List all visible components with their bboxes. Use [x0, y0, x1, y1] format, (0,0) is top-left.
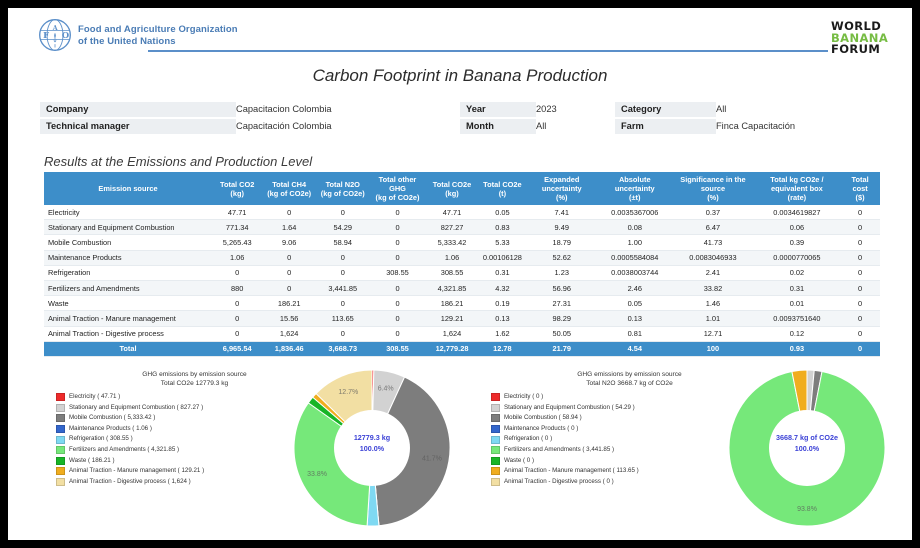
chart-n2o-center-pct: 100.0% — [759, 443, 855, 454]
table-body: Electricity47.7100047.710.057.410.003536… — [44, 205, 880, 356]
table-col-header-9[interactable]: Significance in the source(%) — [672, 172, 753, 205]
table-cell: 0 — [316, 205, 370, 220]
chart-co2e-donut-wrap: 6.4%41.7%33.8%12.7% 12779.3 kg 100.0% — [292, 368, 462, 532]
table-cell: 1.46 — [672, 296, 753, 311]
table-cell: Stationary and Equipment Combustion — [44, 220, 212, 235]
legend-swatch — [491, 436, 500, 444]
legend-item[interactable]: Mobile Combustion ( 58.94 ) — [491, 413, 741, 424]
legend-swatch — [56, 404, 65, 412]
filter-label-year: Year — [460, 102, 536, 117]
legend-swatch — [56, 393, 65, 401]
table-cell: 0 — [316, 296, 370, 311]
table-col-header-8[interactable]: Absolute uncertainty(±t) — [597, 172, 672, 205]
table-cell: 18.79 — [526, 235, 597, 250]
table-cell: 0.0034619827 — [754, 205, 841, 220]
table-cell: 4.32 — [479, 280, 527, 295]
legend-label: Electricity ( 47.71 ) — [69, 392, 120, 403]
table-cell: 0 — [840, 296, 880, 311]
table-cell: 1.64 — [262, 220, 316, 235]
chart-co2e-legend: Electricity ( 47.71 )Stationary and Equi… — [56, 392, 306, 487]
legend-item[interactable]: Stationary and Equipment Combustion ( 54… — [491, 403, 741, 414]
table-col-header-0[interactable]: Emission source — [44, 172, 212, 205]
table-cell: 1,624 — [262, 326, 316, 341]
chart-n2o-block: GHG emissions by emission source Total N… — [491, 370, 911, 530]
table-cell: 58.94 — [316, 235, 370, 250]
legend-swatch — [491, 414, 500, 422]
chart-n2o-subtitle: Total N2O 3668.7 kg of CO2e — [507, 379, 752, 388]
table-cell: 0.31 — [479, 265, 527, 280]
table-total-cell: 12,779.28 — [425, 341, 478, 356]
legend-label: Mobile Combustion ( 58.94 ) — [504, 413, 582, 424]
pie-slice-percent-label: 41.7% — [422, 455, 442, 462]
table-cell: 47.71 — [212, 205, 262, 220]
table-total-row: Total6,965.541,836.463,668.73308.5512,77… — [44, 341, 880, 356]
table-cell: Waste — [44, 296, 212, 311]
fao-organization-name: Food and Agriculture Organization of the… — [78, 24, 238, 47]
table-cell: 0 — [262, 205, 316, 220]
legend-label: Refrigeration ( 0 ) — [504, 434, 552, 445]
chart-n2o-donut-wrap: 93.8% 3668.7 kg of CO2e 100.0% — [727, 368, 897, 532]
table-cell: 0.00106128 — [479, 250, 527, 265]
table-cell: 4,321.85 — [425, 280, 478, 295]
table-cell: 0 — [370, 326, 426, 341]
table-total-cell: 100 — [672, 341, 753, 356]
table-cell: 0 — [370, 205, 426, 220]
table-cell: 7.41 — [526, 205, 597, 220]
chart-n2o-center-label: 3668.7 kg of CO2e 100.0% — [759, 432, 855, 454]
table-cell: 12.71 — [672, 326, 753, 341]
legend-item[interactable]: Animal Traction - Manure management ( 12… — [56, 466, 306, 477]
table-cell: Fertilizers and Amendments — [44, 280, 212, 295]
table-cell: Refrigeration — [44, 265, 212, 280]
chart-co2e-subtitle: Total CO2e 12779.3 kg — [72, 379, 317, 388]
table-cell: Animal Traction - Digestive process — [44, 326, 212, 341]
table-cell: 1.01 — [672, 311, 753, 326]
table-cell: 1.62 — [479, 326, 527, 341]
table-cell: 0 — [370, 235, 426, 250]
legend-label: Maintenance Products ( 0 ) — [504, 424, 578, 435]
table-cell: 33.82 — [672, 280, 753, 295]
legend-swatch — [491, 393, 500, 401]
filter-value-month[interactable]: All — [530, 119, 621, 134]
table-cell: 0 — [212, 326, 262, 341]
table-row[interactable]: Animal Traction - Digestive process01,62… — [44, 326, 880, 341]
table-cell: Animal Traction - Manure management — [44, 311, 212, 326]
legend-swatch — [491, 404, 500, 412]
legend-swatch — [491, 457, 500, 465]
table-cell: 0 — [840, 205, 880, 220]
table-total-cell: 308.55 — [370, 341, 426, 356]
legend-item[interactable]: Electricity ( 0 ) — [491, 392, 741, 403]
table-row[interactable]: Maintenance Products1.060001.060.0010612… — [44, 250, 880, 265]
header-divider — [148, 50, 828, 52]
table-col-header-7[interactable]: Expanded uncertainty(%) — [526, 172, 597, 205]
table-cell: 1.06 — [212, 250, 262, 265]
filter-value-category[interactable]: All — [710, 102, 886, 117]
table-cell: 0 — [370, 296, 426, 311]
table-cell: 5,333.42 — [425, 235, 478, 250]
table-row[interactable]: Fertilizers and Amendments88003,441.8504… — [44, 280, 880, 295]
legend-item[interactable]: Refrigeration ( 0 ) — [491, 434, 741, 445]
legend-item[interactable]: Waste ( 186.21 ) — [56, 456, 306, 467]
filter-band: Company Capacitacion Colombia Year 2023 … — [40, 102, 880, 136]
table-cell: 0 — [840, 280, 880, 295]
table-cell: 3,441.85 — [316, 280, 370, 295]
legend-label: Animal Traction - Digestive process ( 1,… — [69, 477, 191, 488]
wbf-line3: FORUM — [831, 44, 888, 56]
pie-slice-percent-label: 93.8% — [797, 506, 817, 513]
svg-text:A: A — [52, 25, 58, 32]
table-cell: 880 — [212, 280, 262, 295]
chart-n2o-legend: Electricity ( 0 )Stationary and Equipmen… — [491, 392, 741, 487]
filter-value-technical-manager[interactable]: Capacitación Colombia — [230, 119, 466, 134]
page-header: F A O Food and Agriculture Organization … — [8, 8, 912, 54]
table-row[interactable]: Refrigeration000308.55308.550.311.230.00… — [44, 265, 880, 280]
chart-n2o-title: GHG emissions by emission source Total N… — [507, 370, 752, 388]
table-cell: 0.05 — [597, 296, 672, 311]
table-cell: 129.21 — [425, 311, 478, 326]
table-total-cell: 6,965.54 — [212, 341, 262, 356]
table-cell: 0 — [262, 265, 316, 280]
table-cell: 0 — [212, 265, 262, 280]
table-row[interactable]: Electricity47.7100047.710.057.410.003536… — [44, 205, 880, 220]
table-cell: 1.00 — [597, 235, 672, 250]
table-cell: 0 — [840, 220, 880, 235]
page-title: Carbon Footprint in Banana Production — [8, 66, 912, 86]
legend-label: Fertilizers and Amendments ( 3,441.85 ) — [504, 445, 614, 456]
table-cell: Maintenance Products — [44, 250, 212, 265]
table-cell: 50.05 — [526, 326, 597, 341]
table-cell: Mobile Combustion — [44, 235, 212, 250]
table-cell: 5.33 — [479, 235, 527, 250]
table-cell: 113.65 — [316, 311, 370, 326]
table-cell: 0 — [370, 250, 426, 265]
legend-item[interactable]: Fertilizers and Amendments ( 4,321.85 ) — [56, 445, 306, 456]
table-cell: 186.21 — [425, 296, 478, 311]
chart-n2o-center-value: 3668.7 kg of CO2e — [759, 432, 855, 443]
table-cell: 0 — [212, 311, 262, 326]
table-cell: 0 — [840, 235, 880, 250]
table-cell: 52.62 — [526, 250, 597, 265]
table-col-header-4[interactable]: Total other GHG(kg of CO2e) — [370, 172, 426, 205]
legend-swatch — [56, 467, 65, 475]
table-col-header-2[interactable]: Total CH4(kg of CO2e) — [262, 172, 316, 205]
table-cell: 0.31 — [754, 280, 841, 295]
table-cell: 47.71 — [425, 205, 478, 220]
screenshot-root: F A O Food and Agriculture Organization … — [0, 0, 920, 548]
table-cell: 0.13 — [479, 311, 527, 326]
legend-label: Refrigeration ( 308.55 ) — [69, 434, 133, 445]
table-cell: 0.0038003744 — [597, 265, 672, 280]
legend-swatch — [491, 467, 500, 475]
table-cell: 0 — [212, 296, 262, 311]
table-cell: 0.02 — [754, 265, 841, 280]
legend-label: Animal Traction - Manure management ( 11… — [504, 466, 639, 477]
table-head: Emission sourceTotal CO2(kg)Total CH4(kg… — [44, 172, 880, 205]
table-row[interactable]: Stationary and Equipment Combustion771.3… — [44, 220, 880, 235]
chart-co2e-title: GHG emissions by emission source Total C… — [72, 370, 317, 388]
table-cell: 56.96 — [526, 280, 597, 295]
table-cell: 0.39 — [754, 235, 841, 250]
table-cell: 1,624 — [425, 326, 478, 341]
legend-item[interactable]: Stationary and Equipment Combustion ( 82… — [56, 403, 306, 414]
table-cell: 0 — [316, 265, 370, 280]
pie-slice-percent-label: 33.8% — [307, 471, 327, 478]
table-cell: 0.0093751640 — [754, 311, 841, 326]
table-cell: 6.47 — [672, 220, 753, 235]
table-cell: 186.21 — [262, 296, 316, 311]
table-cell: 0.12 — [754, 326, 841, 341]
section-heading: Results at the Emissions and Production … — [44, 154, 312, 169]
legend-swatch — [491, 425, 500, 433]
fao-name-line1: Food and Agriculture Organization — [78, 24, 238, 36]
filter-row-1: Company Capacitacion Colombia Year 2023 … — [40, 102, 880, 117]
table-col-header-10[interactable]: Total kg CO2e / equivalent box(rate) — [754, 172, 841, 205]
table-cell: 2.46 — [597, 280, 672, 295]
table-col-header-6[interactable]: Total CO2e(t) — [479, 172, 527, 205]
legend-swatch — [56, 478, 65, 486]
table-col-header-5[interactable]: Total CO2e(kg) — [425, 172, 478, 205]
report-page: F A O Food and Agriculture Organization … — [8, 8, 912, 540]
table-cell: 0.05 — [479, 205, 527, 220]
table-cell: 98.29 — [526, 311, 597, 326]
table-cell: 0.01 — [754, 296, 841, 311]
table-col-header-11[interactable]: Total cost($) — [840, 172, 880, 205]
table-row[interactable]: Mobile Combustion5,265.439.0658.9405,333… — [44, 235, 880, 250]
legend-item[interactable]: Refrigeration ( 308.55 ) — [56, 434, 306, 445]
table-cell: 0.19 — [479, 296, 527, 311]
table-total-cell: 0.93 — [754, 341, 841, 356]
table-cell: 0 — [370, 311, 426, 326]
table-cell: 0.0000770065 — [754, 250, 841, 265]
table-total-cell: Total — [44, 341, 212, 356]
table-cell: 0 — [262, 280, 316, 295]
pie-slice-percent-label: 12.7% — [338, 389, 358, 396]
table-cell: 1.23 — [526, 265, 597, 280]
legend-swatch — [491, 446, 500, 454]
table-cell: 308.55 — [370, 265, 426, 280]
legend-item[interactable]: Electricity ( 47.71 ) — [56, 392, 306, 403]
table-cell: 0 — [840, 311, 880, 326]
table-header-row: Emission sourceTotal CO2(kg)Total CH4(kg… — [44, 172, 880, 205]
table-total-cell: 21.79 — [526, 341, 597, 356]
chart-n2o-title-line1: GHG emissions by emission source — [507, 370, 752, 379]
chart-co2e-center-pct: 100.0% — [324, 443, 420, 454]
svg-text:O: O — [62, 31, 70, 41]
table-cell: 0.13 — [597, 311, 672, 326]
legend-label: Electricity ( 0 ) — [504, 392, 543, 403]
table-cell: 5,265.43 — [212, 235, 262, 250]
filter-label-month: Month — [460, 119, 536, 134]
chart-co2e-center-value: 12779.3 kg — [324, 432, 420, 443]
table-cell: 0 — [316, 250, 370, 265]
table-cell: 827.27 — [425, 220, 478, 235]
table-col-header-1[interactable]: Total CO2(kg) — [212, 172, 262, 205]
table-cell: 9.06 — [262, 235, 316, 250]
table-cell: 15.56 — [262, 311, 316, 326]
table-cell: 0 — [370, 280, 426, 295]
table-cell: 0 — [840, 265, 880, 280]
table-cell: 54.29 — [316, 220, 370, 235]
table-cell: 41.73 — [672, 235, 753, 250]
emissions-table: Emission sourceTotal CO2(kg)Total CH4(kg… — [44, 172, 880, 357]
table-row[interactable]: Waste0186.2100186.210.1927.310.051.460.0… — [44, 296, 880, 311]
fao-logo-icon: F A O — [38, 18, 72, 52]
filter-label-company: Company — [40, 102, 236, 117]
filter-value-year[interactable]: 2023 — [530, 102, 621, 117]
table-cell: 0.08 — [597, 220, 672, 235]
legend-item[interactable]: Maintenance Products ( 0 ) — [491, 424, 741, 435]
legend-label: Mobile Combustion ( 5,333.42 ) — [69, 413, 155, 424]
pie-slice-percent-label: 6.4% — [378, 386, 394, 393]
table-cell: 2.41 — [672, 265, 753, 280]
legend-swatch — [56, 414, 65, 422]
legend-item[interactable]: Waste ( 0 ) — [491, 456, 741, 467]
table-cell: 0 — [316, 326, 370, 341]
legend-label: Stationary and Equipment Combustion ( 54… — [504, 403, 635, 414]
legend-swatch — [56, 446, 65, 454]
svg-text:F: F — [43, 31, 49, 41]
filter-label-technical-manager: Technical manager — [40, 119, 236, 134]
table-cell: 27.31 — [526, 296, 597, 311]
world-banana-forum-logo: WORLD BANANA FORUM — [831, 21, 888, 56]
table-cell: 9.49 — [526, 220, 597, 235]
table-cell: 0.0083046933 — [672, 250, 753, 265]
legend-label: Maintenance Products ( 1.06 ) — [69, 424, 152, 435]
table-cell: 0.37 — [672, 205, 753, 220]
legend-label: Stationary and Equipment Combustion ( 82… — [69, 403, 203, 414]
table-cell: 0.81 — [597, 326, 672, 341]
table-cell: Electricity — [44, 205, 212, 220]
table-cell: 0 — [840, 250, 880, 265]
legend-item[interactable]: Animal Traction - Manure management ( 11… — [491, 466, 741, 477]
table-cell: 308.55 — [425, 265, 478, 280]
legend-swatch — [56, 425, 65, 433]
table-total-cell: 12.78 — [479, 341, 527, 356]
legend-item[interactable]: Animal Traction - Digestive process ( 1,… — [56, 477, 306, 488]
table-total-cell: 4.54 — [597, 341, 672, 356]
legend-label: Fertilizers and Amendments ( 4,321.85 ) — [69, 445, 179, 456]
filter-label-farm: Farm — [615, 119, 716, 134]
legend-swatch — [491, 478, 500, 486]
table-total-cell: 1,836.46 — [262, 341, 316, 356]
table-total-cell: 3,668.73 — [316, 341, 370, 356]
table-row[interactable]: Animal Traction - Manure management015.5… — [44, 311, 880, 326]
legend-label: Animal Traction - Digestive process ( 0 … — [504, 477, 614, 488]
filter-row-2: Technical manager Capacitación Colombia … — [40, 119, 880, 134]
legend-swatch — [56, 457, 65, 465]
legend-swatch — [56, 436, 65, 444]
chart-co2e-block: GHG emissions by emission source Total C… — [56, 370, 476, 530]
legend-item[interactable]: Animal Traction - Digestive process ( 0 … — [491, 477, 741, 488]
chart-co2e-center-label: 12779.3 kg 100.0% — [324, 432, 420, 454]
table-cell: 0.06 — [754, 220, 841, 235]
filter-label-category: Category — [615, 102, 716, 117]
legend-label: Animal Traction - Manure management ( 12… — [69, 466, 204, 477]
table-cell: 771.34 — [212, 220, 262, 235]
legend-item[interactable]: Maintenance Products ( 1.06 ) — [56, 424, 306, 435]
legend-item[interactable]: Fertilizers and Amendments ( 3,441.85 ) — [491, 445, 741, 456]
chart-co2e-title-line1: GHG emissions by emission source — [72, 370, 317, 379]
table-cell: 0 — [840, 326, 880, 341]
filter-value-farm[interactable]: Finca Capacitación — [710, 119, 886, 134]
fao-name-line2: of the United Nations — [78, 36, 238, 48]
table-cell: 0 — [262, 250, 316, 265]
table-col-header-3[interactable]: Total N2O(kg of CO2e) — [316, 172, 370, 205]
legend-label: Waste ( 0 ) — [504, 456, 534, 467]
table-cell: 0.0035367006 — [597, 205, 672, 220]
legend-label: Waste ( 186.21 ) — [69, 456, 115, 467]
table-cell: 1.06 — [425, 250, 478, 265]
table-total-cell: 0 — [840, 341, 880, 356]
table-cell: 0.83 — [479, 220, 527, 235]
table-cell: 0 — [370, 220, 426, 235]
table-cell: 0.0005584084 — [597, 250, 672, 265]
legend-item[interactable]: Mobile Combustion ( 5,333.42 ) — [56, 413, 306, 424]
filter-value-company[interactable]: Capacitacion Colombia — [230, 102, 466, 117]
